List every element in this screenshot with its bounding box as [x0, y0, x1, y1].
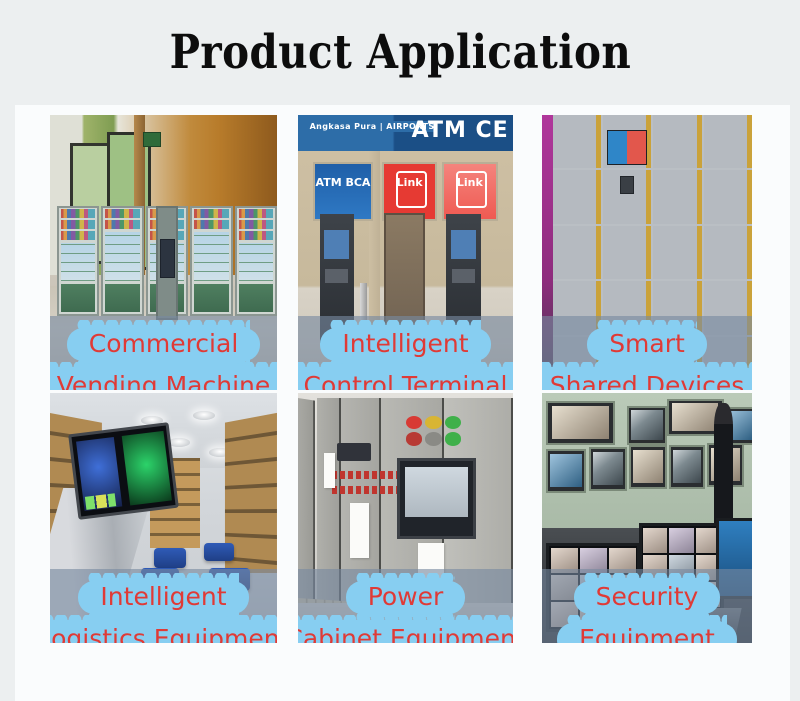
- right-edge-strip: [790, 105, 800, 701]
- card-power-cabinet-equipment[interactable]: Power Cabinet Equipment: [298, 393, 513, 643]
- crt-monitor: [546, 401, 615, 445]
- card-label-line1: Commercial: [71, 325, 257, 364]
- agv-robot: [204, 543, 234, 561]
- kiosk-screen: [160, 239, 175, 278]
- card-label-line2: Cabinet Equipment: [298, 620, 513, 643]
- crt-monitor: [546, 449, 586, 493]
- link-label-1: Link: [384, 177, 436, 189]
- vending-machine-unit: [101, 206, 143, 316]
- product-application-page: Product Application: [0, 0, 800, 701]
- card-labels: Smart Shared Devices: [542, 325, 752, 390]
- atm-center-banner: Angkasa Pura | AIRPORTS ATM CE: [298, 115, 513, 151]
- vending-machine-unit: [190, 206, 232, 316]
- card-labels: Intelligent Control Terminal: [298, 325, 513, 390]
- card-label-line2: Equipment: [561, 620, 733, 643]
- card-labels: Commercial Vending Machine: [50, 325, 277, 390]
- atm-center-text: ATM CE: [412, 118, 509, 143]
- paper-label: [324, 453, 335, 488]
- card-labels: Security Equipment: [542, 578, 752, 643]
- link-label-2: Link: [444, 177, 496, 189]
- locker-touch-display: [607, 130, 647, 165]
- exit-sign-icon: [143, 132, 161, 148]
- crt-monitor: [589, 447, 627, 491]
- crt-monitor: [669, 445, 705, 489]
- atm-bca-lightbox: ATM BCA: [313, 162, 373, 221]
- indicator-lamps: [406, 416, 462, 446]
- hmi-touch-panel: [397, 458, 476, 539]
- vending-payment-kiosk: [156, 206, 178, 320]
- card-label-line2: Vending Machine: [50, 367, 277, 390]
- ceiling-lamp: [193, 411, 215, 420]
- security-operator: [714, 403, 733, 533]
- link-lightbox-pink: Link: [442, 162, 498, 221]
- vending-machine-unit: [235, 206, 277, 316]
- card-commercial-vending-machine[interactable]: Commercial Vending Machine: [50, 115, 277, 390]
- card-security-equipment[interactable]: Security Equipment: [542, 393, 752, 643]
- agv-robot: [154, 548, 186, 568]
- card-intelligent-logistics-equipment[interactable]: Intelligent Logistics Equipment: [50, 393, 277, 643]
- robot-vision-monitor: [68, 422, 179, 520]
- card-label-line2: Shared Devices: [542, 367, 752, 390]
- card-intelligent-control-terminal[interactable]: Angkasa Pura | AIRPORTS ATM CE ATM BCA L…: [298, 115, 513, 390]
- card-label-line2: Logistics Equipment: [50, 620, 277, 643]
- card-label-line1: Smart: [591, 325, 703, 364]
- card-label-line1: Intelligent: [82, 578, 244, 617]
- card-smart-shared-devices[interactable]: Smart Shared Devices: [542, 115, 752, 390]
- vending-machine-unit: [57, 206, 99, 316]
- page-header: Product Application: [0, 0, 800, 105]
- card-label-line1: Security: [578, 578, 717, 617]
- crt-monitor: [627, 406, 667, 445]
- card-label-line1: Intelligent: [324, 325, 486, 364]
- card-label-line1: Power: [350, 578, 462, 617]
- terminal-strip: [332, 486, 405, 495]
- cards-board: Commercial Vending Machine Angkasa Pura …: [15, 105, 790, 701]
- qr-scanner-icon: [620, 176, 635, 195]
- cabinet-door-handle: [337, 443, 371, 461]
- card-labels: Power Cabinet Equipment: [298, 578, 513, 643]
- card-labels: Intelligent Logistics Equipment: [50, 578, 277, 643]
- crt-monitor: [629, 445, 667, 489]
- card-label-line2: Control Terminal: [298, 367, 513, 390]
- atm-bca-label: ATM BCA: [315, 177, 371, 189]
- terminal-strip: [332, 471, 405, 480]
- paper-label: [350, 503, 369, 558]
- page-title: Product Application: [169, 29, 631, 76]
